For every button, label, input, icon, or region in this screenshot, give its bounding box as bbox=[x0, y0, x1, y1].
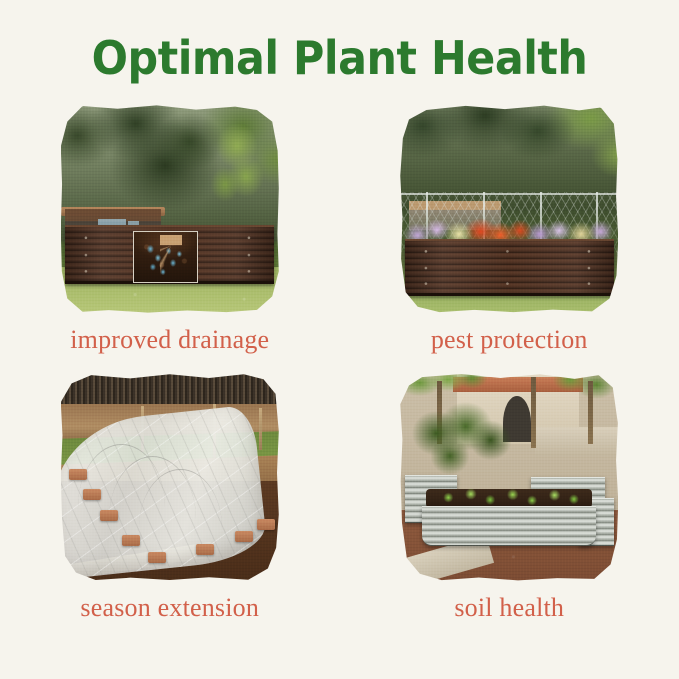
soil-cutaway bbox=[133, 231, 198, 283]
feature-image-soil-health bbox=[400, 373, 618, 581]
fence-top-rail bbox=[400, 193, 618, 195]
brick bbox=[148, 552, 166, 563]
photo-pest-protection bbox=[400, 105, 618, 313]
brick bbox=[196, 544, 214, 555]
photo-improved-drainage bbox=[61, 105, 279, 313]
brick bbox=[69, 469, 87, 480]
brick-weights bbox=[61, 373, 279, 581]
feature-grid: improved drainage bbox=[0, 105, 679, 625]
feature-caption-soil-health: soil health bbox=[454, 591, 564, 625]
palm-trunk bbox=[531, 377, 536, 448]
feature-card-pest-protection[interactable]: pest protection bbox=[340, 105, 679, 357]
brick bbox=[257, 519, 275, 530]
feature-caption-pest-protection: pest protection bbox=[431, 323, 588, 357]
brick bbox=[122, 535, 140, 546]
feature-caption-improved-drainage: improved drainage bbox=[70, 323, 269, 357]
feature-card-improved-drainage[interactable]: improved drainage bbox=[0, 105, 340, 357]
bed-rivets bbox=[405, 241, 614, 293]
feature-card-soil-health[interactable]: soil health bbox=[340, 373, 679, 625]
infographic-root: Optimal Plant Health bbox=[0, 0, 679, 679]
brick bbox=[235, 531, 253, 542]
page-title: Optimal Plant Health bbox=[92, 28, 588, 88]
raised-bed-brown bbox=[405, 239, 614, 296]
feature-image-improved-drainage bbox=[61, 105, 279, 313]
feature-card-season-extension[interactable]: season extension bbox=[0, 373, 340, 625]
brick bbox=[83, 489, 101, 500]
raised-bed-front bbox=[422, 506, 596, 545]
title-container: Optimal Plant Health bbox=[0, 28, 679, 88]
feature-image-season-extension bbox=[61, 373, 279, 581]
bright-tree bbox=[200, 117, 274, 213]
plant-roots bbox=[160, 235, 182, 280]
photo-soil-health bbox=[400, 373, 618, 581]
palm-trunk bbox=[588, 381, 593, 443]
feature-image-pest-protection bbox=[400, 105, 618, 313]
feature-caption-season-extension: season extension bbox=[80, 591, 259, 625]
photo-season-extension bbox=[61, 373, 279, 581]
brick bbox=[100, 510, 118, 521]
